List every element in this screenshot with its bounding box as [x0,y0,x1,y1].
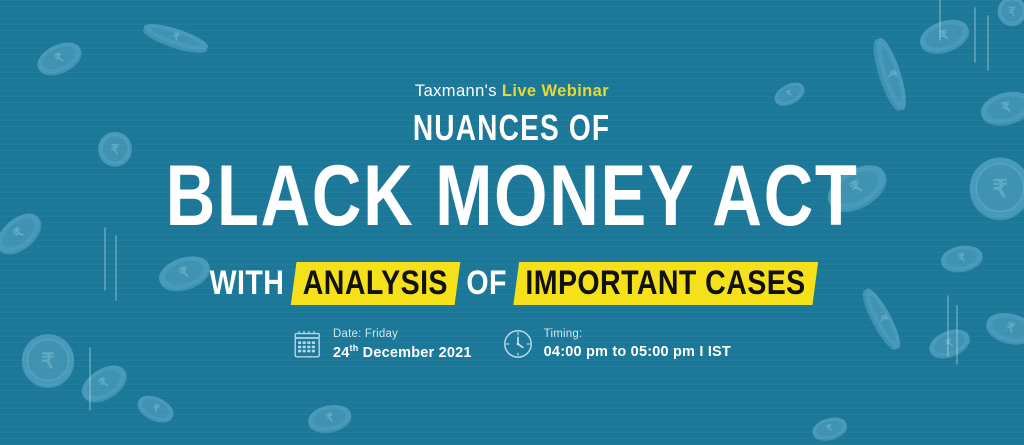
event-date-value: 24th December 2021 [333,343,472,362]
subtitle-highlight-important-cases: IMPORTANT CASES [516,262,815,305]
event-date-block: Date: Friday 24th December 2021 [293,327,472,361]
event-date-label: Date: Friday [333,327,472,343]
subtitle-highlight-analysis: ANALYSIS [293,262,457,305]
event-date-text: Date: Friday 24th December 2021 [333,327,472,361]
event-timing-block: Timing: 04:00 pm to 05:00 pm I IST [502,327,731,361]
clock-icon [502,328,534,360]
subtitle-word-of: OF [466,266,507,300]
subtitle-word-with: WITH [209,266,284,300]
banner-content: Taxmann's Live Webinar NUANCES OF BLACK … [0,0,1024,445]
event-timing-label: Timing: [544,327,731,343]
subtitle-line: WITH ANALYSIS OF IMPORTANT CASES [209,263,814,303]
webinar-banner: ₹ ₹ ₹ [0,0,1024,445]
eyebrow-line: Taxmann's Live Webinar [415,82,609,101]
page-title: BLACK MONEY ACT [166,153,859,239]
event-date-day: 24 [333,344,350,360]
subtitle-highlight-important-cases-text: IMPORTANT CASES [525,264,805,302]
event-timing-value: 04:00 pm to 05:00 pm I IST [544,343,731,361]
event-timing-text: Timing: 04:00 pm to 05:00 pm I IST [544,327,731,361]
subtitle-highlight-analysis-text: ANALYSIS [302,264,447,302]
event-meta-row: Date: Friday 24th December 2021 [293,327,731,361]
webinar-type-label: Live Webinar [502,82,609,100]
calendar-icon [293,329,323,360]
title-kicker: NUANCES OF [413,110,610,146]
event-date-month-year: December 2021 [358,344,471,360]
brand-name: Taxmann's [415,82,497,100]
